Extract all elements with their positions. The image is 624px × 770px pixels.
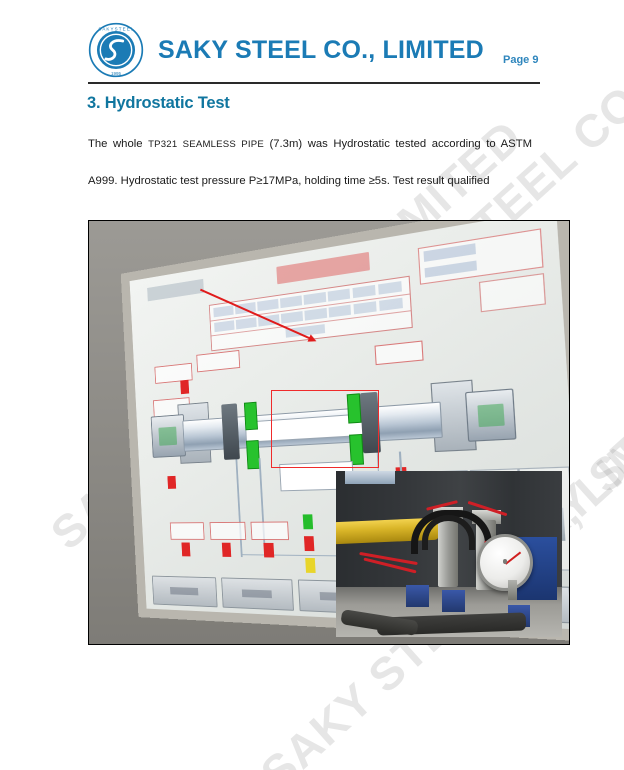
hmi-pressure-reading-photo bbox=[89, 433, 329, 645]
section-paragraph: The whole TP321 SEAMLESS PIPE (7.3m) was… bbox=[88, 126, 532, 200]
svg-text:S A K Y S T E E L: S A K Y S T E E L bbox=[98, 26, 134, 31]
brand-title: SAKY STEEL CO., LIMITED bbox=[158, 36, 484, 65]
saky-steel-logo-icon: S A K Y S T E E L 1995 bbox=[88, 22, 144, 78]
page-header: S A K Y S T E E L 1995 SAKY STEEL CO., L… bbox=[0, 0, 624, 84]
paragraph-smallcaps: TP321 SEAMLESS PIPE bbox=[148, 139, 264, 150]
header-divider bbox=[88, 82, 540, 84]
highlight-box bbox=[271, 433, 329, 469]
pressure-gauge-icon bbox=[477, 534, 533, 592]
table-cell: ASTM TP321 SEAMLESS PIPE Hydrostatic tes… bbox=[89, 433, 329, 645]
document-page: SAKY STEEL CO., LIMITED SAKY STEEL CO., … bbox=[0, 0, 624, 770]
page-number: Page 9 bbox=[503, 54, 538, 66]
pressure-gauge-hydraulics-photo bbox=[336, 471, 562, 638]
svg-text:1995: 1995 bbox=[111, 71, 121, 76]
section-heading: 3. Hydrostatic Test bbox=[87, 94, 230, 113]
paragraph-part-1: The whole bbox=[88, 138, 148, 150]
test-results-table: ASTM TP321 SEAMLESS PIPE Hydrostatic tes… bbox=[88, 220, 570, 645]
